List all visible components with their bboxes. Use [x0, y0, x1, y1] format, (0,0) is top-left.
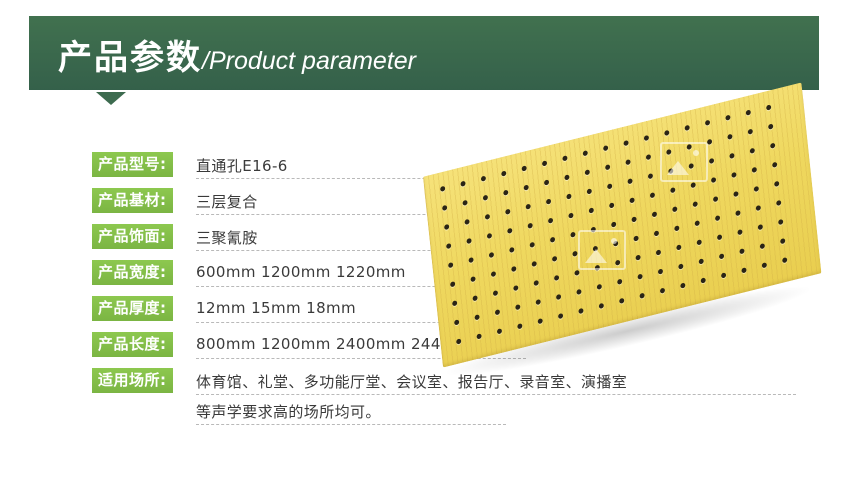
panel-hole: [650, 192, 655, 198]
panel-hole: [562, 155, 567, 161]
panel-hole: [442, 205, 447, 211]
page-title-en: /Product parameter: [202, 47, 416, 75]
panel-hole: [631, 216, 636, 222]
panel-hole: [487, 233, 492, 239]
panel-hole: [576, 289, 581, 295]
spec-value-width: 600mm 1200mm 1220mm: [196, 263, 406, 281]
acoustic-panel-illustration: [398, 120, 850, 370]
panel-hole: [556, 294, 561, 300]
spec-value-substrate: 三层复合: [196, 191, 258, 212]
panel-hole: [599, 303, 604, 309]
panel-hole: [583, 150, 588, 156]
panel-hole: [448, 262, 453, 268]
panel-hole: [587, 188, 592, 194]
panel-hole: [554, 275, 559, 281]
panel-hole: [546, 198, 551, 204]
panel-hole: [733, 191, 738, 197]
product-image: [398, 120, 850, 370]
spec-value-thickness: 12mm 15mm 18mm: [196, 299, 356, 317]
panel-hole: [525, 204, 530, 210]
panel-hole: [670, 187, 675, 193]
panel-hole: [607, 183, 612, 189]
panel-hole: [737, 229, 742, 235]
panel-hole: [513, 285, 518, 291]
panel-hole: [754, 186, 759, 192]
panel-hole: [476, 333, 481, 339]
panel-hole: [699, 258, 704, 264]
panel-hole: [548, 218, 553, 224]
spec-label-length: 产品长度:: [92, 332, 173, 357]
panel-hole: [530, 242, 535, 248]
page-title: 产品参数/Product parameter: [58, 30, 416, 79]
spec-label-thickness: 产品厚度:: [92, 296, 173, 321]
panel-hole: [768, 124, 773, 130]
panel-hole: [762, 262, 767, 268]
panel-hole: [750, 148, 755, 154]
panel-hole: [635, 254, 640, 260]
banner-notch: [96, 92, 126, 105]
panel-hole: [693, 201, 698, 207]
panel-hole: [452, 300, 457, 306]
panel-hole: [778, 219, 783, 225]
panel-hole: [483, 195, 488, 201]
panel-hole: [507, 228, 512, 234]
panel-hole: [701, 277, 706, 283]
panel-hole: [570, 232, 575, 238]
panel-hole: [646, 154, 651, 160]
panel-hole: [534, 280, 539, 286]
panel-hole: [697, 239, 702, 245]
panel-hole: [727, 134, 732, 140]
panel-hole: [711, 177, 716, 183]
panel-hole: [715, 215, 720, 221]
panel-hole: [684, 125, 689, 131]
panel-hole: [585, 169, 590, 175]
panel-hole: [572, 251, 577, 257]
panel-hole: [772, 162, 777, 168]
panel-hole: [440, 186, 445, 192]
panel-hole: [780, 238, 785, 244]
panel-hole: [474, 314, 479, 320]
panel-hole: [472, 295, 477, 301]
panel-hole: [623, 140, 628, 146]
spec-value-model: 直通孔E16-6: [196, 155, 288, 176]
panel-hole: [597, 284, 602, 290]
panel-hole: [481, 176, 486, 182]
panel-hole: [558, 313, 563, 319]
panel-hole: [521, 165, 526, 171]
panel-hole: [709, 158, 714, 164]
panel-hole: [462, 200, 467, 206]
panel-hole: [493, 290, 498, 296]
panel-hole: [656, 249, 661, 255]
panel-hole: [678, 263, 683, 269]
panel-hole: [619, 298, 624, 304]
panel-hole: [782, 257, 787, 263]
panel-hole: [464, 219, 469, 225]
panel-hole: [746, 110, 751, 116]
spec-value-application-line2: 等声学要求高的场所均可。: [196, 401, 381, 422]
spec-label-finish: 产品饰面:: [92, 224, 173, 249]
panel-hole: [676, 244, 681, 250]
panel-hole: [566, 193, 571, 199]
panel-hole: [717, 234, 722, 240]
panel-hole: [611, 221, 616, 227]
panel-hole: [652, 211, 657, 217]
panel-hole: [550, 237, 555, 243]
panel-hole: [456, 338, 461, 344]
panel-hole: [680, 282, 685, 288]
panel-hole: [468, 257, 473, 263]
panel-hole: [603, 145, 608, 151]
spec-underline: [196, 394, 796, 395]
panel-hole: [489, 252, 494, 258]
panel-hole: [470, 276, 475, 282]
panel-hole: [444, 224, 449, 230]
panel-hole: [766, 104, 771, 110]
panel-hole: [495, 309, 500, 315]
panel-hole: [450, 281, 455, 287]
watermark-icon: [578, 230, 626, 270]
panel-hole: [725, 115, 730, 121]
panel-hole: [719, 253, 724, 259]
panel-hole: [629, 197, 634, 203]
page-title-cn: 产品参数: [58, 38, 202, 78]
panel-hole: [538, 318, 543, 324]
panel-hole: [748, 129, 753, 135]
panel-hole: [729, 153, 734, 159]
panel-hole: [617, 279, 622, 285]
panel-hole: [501, 170, 506, 176]
panel-hole: [627, 178, 632, 184]
panel-hole: [511, 266, 516, 272]
panel-hole: [674, 225, 679, 231]
panel-hole: [491, 271, 496, 277]
panel-hole: [713, 196, 718, 202]
header-banner: 产品参数/Product parameter: [29, 16, 821, 92]
panel-hole: [505, 209, 510, 215]
panel-hole: [691, 182, 696, 188]
panel-hole: [523, 184, 528, 190]
panel-hole: [731, 172, 736, 178]
panel-hole: [776, 200, 781, 206]
panel-hole: [660, 288, 665, 294]
spec-value-finish: 三聚氰胺: [196, 227, 258, 248]
panel-hole: [633, 235, 638, 241]
panel-hole: [756, 205, 761, 211]
panel-hole: [532, 261, 537, 267]
panel-hole: [625, 159, 630, 165]
panel-hole: [639, 293, 644, 299]
panel-hole: [517, 323, 522, 329]
panel-hole: [466, 238, 471, 244]
spec-label-substrate: 产品基材:: [92, 188, 173, 213]
panel-hole: [658, 268, 663, 274]
panel-hole: [578, 308, 583, 314]
panel-hole: [648, 173, 653, 179]
panel-hole: [589, 207, 594, 213]
panel-hole: [509, 247, 514, 253]
panel-hole: [739, 248, 744, 254]
panel-hole: [752, 167, 757, 173]
panel-hole: [760, 243, 765, 249]
panel-hole: [637, 274, 642, 280]
spec-label-model: 产品型号:: [92, 152, 173, 177]
panel-hole: [609, 202, 614, 208]
panel-hole: [758, 224, 763, 230]
spec-underline: [196, 424, 506, 425]
panel-face: [423, 82, 821, 367]
panel-hole: [770, 143, 775, 149]
spec-value-application: 体育馆、礼堂、多功能厅堂、会议室、报告厅、录音室、演播室: [196, 371, 627, 392]
panel-hole: [454, 319, 459, 325]
panel-hole: [485, 214, 490, 220]
panel-hole: [568, 212, 573, 218]
panel-hole: [721, 272, 726, 278]
panel-hole: [672, 206, 677, 212]
panel-hole: [574, 270, 579, 276]
panel-hole: [695, 220, 700, 226]
panel-hole: [497, 328, 502, 334]
panel-hole: [544, 179, 549, 185]
panel-hole: [527, 223, 532, 229]
panel-hole: [460, 181, 465, 187]
panel-hole: [605, 164, 610, 170]
panel-hole: [664, 130, 669, 136]
spec-row: 适用场所: 体育馆、礼堂、多功能厅堂、会议室、报告厅、录音室、演播室 等声学要求…: [92, 368, 732, 440]
spec-label-application: 适用场所:: [92, 368, 173, 393]
panel-hole: [735, 210, 740, 216]
panel-hole: [774, 181, 779, 187]
panel-hole: [644, 135, 649, 141]
panel-hole: [741, 267, 746, 273]
panel-hole: [705, 120, 710, 126]
panel-hole: [536, 299, 541, 305]
panel-hole: [542, 160, 547, 166]
panel-hole: [564, 174, 569, 180]
panel-hole: [515, 304, 520, 310]
panel-hole: [446, 243, 451, 249]
panel-hole: [654, 230, 659, 236]
panel-hole: [552, 256, 557, 262]
spec-label-width: 产品宽度:: [92, 260, 173, 285]
watermark-icon: [660, 142, 708, 182]
panel-hole: [503, 190, 508, 196]
